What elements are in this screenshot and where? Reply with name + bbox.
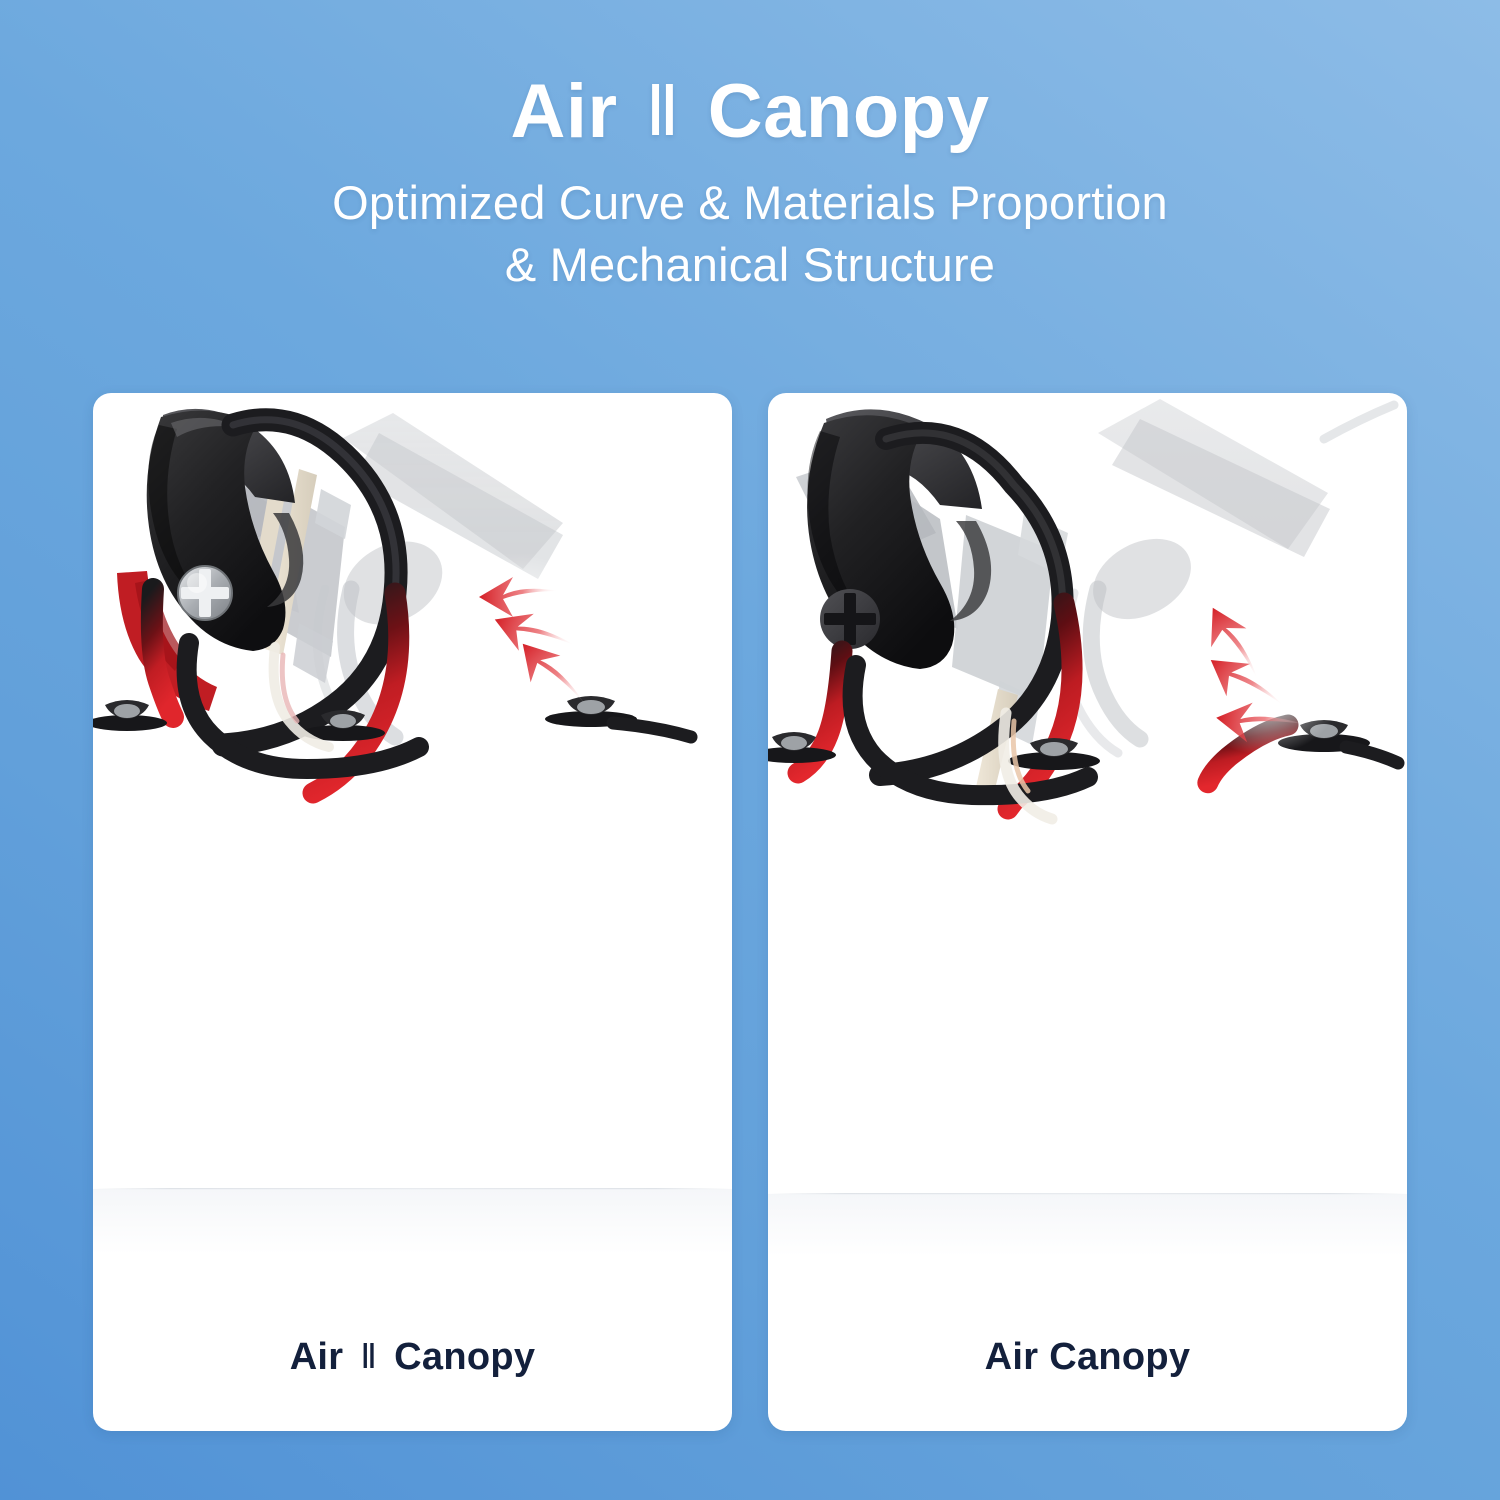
page-subtitle: Optimized Curve & Materials Proportion &… bbox=[0, 172, 1500, 297]
landing-foot-mid bbox=[1008, 738, 1100, 770]
product-photo-air bbox=[768, 393, 1407, 1273]
title-prefix: Air bbox=[511, 69, 618, 154]
card-air-ii-canopy[interactable]: Air Ⅱ Canopy bbox=[93, 393, 732, 1431]
title-roman-numeral: Ⅱ bbox=[639, 74, 686, 151]
arrow-glow bbox=[1188, 631, 1340, 755]
arrow-glow bbox=[441, 555, 601, 695]
comparison-cards: Air Ⅱ Canopy bbox=[93, 393, 1407, 1431]
caption-prefix: Air bbox=[985, 1336, 1039, 1378]
air-ii-canopy-illustration bbox=[93, 393, 732, 1273]
phillips-screw bbox=[178, 566, 232, 620]
caption-prefix: Air bbox=[290, 1336, 344, 1378]
ground-line bbox=[768, 1193, 1407, 1195]
phillips-screw bbox=[820, 589, 880, 649]
air-canopy-illustration bbox=[768, 393, 1407, 1273]
caption-roman-numeral: Ⅱ bbox=[354, 1339, 383, 1376]
caption-suffix: Canopy bbox=[394, 1336, 535, 1378]
page-title: Air Ⅱ Canopy bbox=[0, 72, 1500, 152]
caption-air-canopy: Air Canopy bbox=[768, 1336, 1407, 1379]
page-header: Air Ⅱ Canopy Optimized Curve & Materials… bbox=[0, 0, 1500, 297]
subtitle-line-1: Optimized Curve & Materials Proportion bbox=[0, 172, 1500, 235]
card-air-canopy[interactable]: Air Canopy bbox=[768, 393, 1407, 1431]
subtitle-line-2: & Mechanical Structure bbox=[0, 234, 1500, 297]
caption-suffix: Canopy bbox=[1049, 1336, 1190, 1378]
caption-air-ii-canopy: Air Ⅱ Canopy bbox=[93, 1336, 732, 1379]
ground-line bbox=[93, 1188, 732, 1190]
product-photo-air-ii bbox=[93, 393, 732, 1273]
title-suffix: Canopy bbox=[708, 69, 990, 154]
